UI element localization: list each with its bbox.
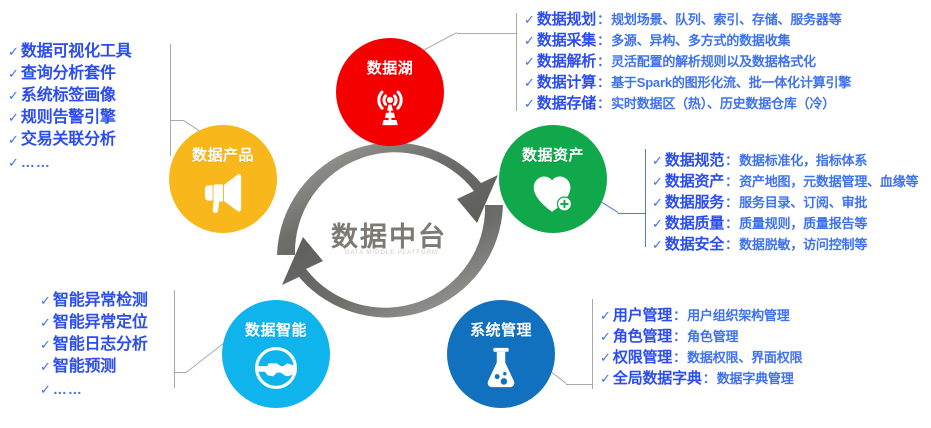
list-item-desc: 服务目录、订阅、审批 (739, 192, 867, 213)
handshake-icon (252, 344, 300, 392)
list-item-desc: 资产地图，元数据管理、血缘等 (739, 171, 918, 192)
check-icon: ✓ (40, 334, 51, 356)
list-item-desc: 用户组织架构管理 (687, 305, 789, 326)
list-item-separator: ： (596, 9, 611, 30)
list-item-desc: 灵活配置的解析规则以及数据格式化 (611, 51, 816, 72)
flask-icon (477, 344, 525, 392)
list-item-term: …… (21, 151, 51, 173)
list-item-desc: 数据脱敏，访问控制等 (739, 234, 867, 255)
list-item: ✓ 交易关联分析 (8, 129, 132, 151)
connector-rule-data-intelligence (174, 290, 175, 388)
list-item-term: 数据规划 (537, 9, 596, 30)
list-item: ✓ 数据质量 ： 质量规则，质量报告等 (652, 213, 918, 234)
list-item-separator: ： (672, 305, 687, 326)
list-item: ✓ 数据规划 ： 规划场景、队列、索引、存储、服务器等 (524, 9, 851, 30)
list-item-separator: ： (596, 72, 611, 93)
list-item: ✓ 全局数据字典 ： 数据字典管理 (600, 368, 802, 389)
text-block-data-asset: ✓ 数据规范 ： 数据标准化，指标体系 ✓ 数据资产 ： 资产地图，元数据管理、… (652, 150, 918, 255)
list-item: ✓ 智能预测 (40, 356, 148, 378)
node-data-lake[interactable]: 数据湖 (336, 38, 444, 146)
list-item: ✓ 数据计算 ： 基于Spark的图形化流、批一体化计算引擎 (524, 72, 851, 93)
node-system-management[interactable]: 系统管理 (447, 300, 555, 408)
list-item-desc: 规划场景、队列、索引、存储、服务器等 (611, 9, 841, 30)
list-item-term: 数据安全 (665, 234, 724, 255)
node-label-data-intelligence: 数据智能 (245, 319, 307, 340)
list-item-term: 数据规范 (665, 150, 724, 171)
list-item-term: …… (53, 378, 83, 400)
node-label-data-lake: 数据湖 (367, 57, 414, 78)
list-item-term: 角色管理 (613, 326, 672, 347)
list-item-term: 交易关联分析 (21, 129, 116, 151)
list-item-term: 数据资产 (665, 171, 724, 192)
check-icon: ✓ (652, 234, 663, 255)
node-data-asset[interactable]: 数据资产 (499, 125, 607, 233)
list-item-separator: ： (596, 51, 611, 72)
list-item-term: 数据服务 (665, 192, 724, 213)
node-data-intelligence[interactable]: 数据智能 (222, 300, 330, 408)
list-item: ✓ …… (40, 378, 148, 400)
list-item: ✓ …… (8, 151, 132, 173)
list-item-term: 智能异常检测 (53, 290, 148, 312)
list-item: ✓ 用户管理 ： 用户组织架构管理 (600, 305, 802, 326)
list-item: ✓ 智能异常检测 (40, 290, 148, 312)
node-data-product[interactable]: 数据产品 (169, 125, 277, 233)
node-label-system-management: 系统管理 (470, 319, 532, 340)
list-item-separator: ： (672, 347, 687, 368)
check-icon: ✓ (40, 379, 51, 401)
text-block-data-lake: ✓ 数据规划 ： 规划场景、队列、索引、存储、服务器等 ✓ 数据采集 ： 多源、… (524, 9, 851, 114)
list-item-separator: ： (724, 171, 739, 192)
list-item: ✓ 数据服务 ： 服务目录、订阅、审批 (652, 192, 918, 213)
list-item-separator: ： (596, 30, 611, 51)
connector-stub-data-asset (618, 213, 645, 214)
list-item-separator: ： (724, 234, 739, 255)
connector-stub-data-intelligence (174, 372, 186, 373)
list-item-desc: 基于Spark的图形化流、批一体化计算引擎 (611, 72, 851, 93)
center-subtitle: DATA MIDDLE PLATFORM (345, 250, 438, 256)
list-item-term: 智能预测 (53, 356, 116, 378)
check-icon: ✓ (600, 368, 611, 389)
check-icon: ✓ (600, 347, 611, 368)
list-item-term: 数据存储 (537, 93, 596, 114)
check-icon: ✓ (524, 72, 535, 93)
list-item: ✓ 规则告警引擎 (8, 107, 132, 129)
list-item-desc: 质量规则，质量报告等 (739, 213, 867, 234)
connector-stub-system-management (566, 384, 592, 385)
list-item-term: 用户管理 (613, 305, 672, 326)
list-item-term: 全局数据字典 (613, 368, 702, 389)
list-item: ✓ 数据资产 ： 资产地图，元数据管理、血缘等 (652, 171, 918, 192)
list-item-desc: 数据字典管理 (717, 368, 794, 389)
list-item-desc: 数据权限、界面权限 (687, 347, 802, 368)
connector-rule-data-product (170, 44, 171, 156)
heart-plus-icon (529, 169, 577, 217)
list-item-term: 数据计算 (537, 72, 596, 93)
list-item-term: 数据可视化工具 (21, 41, 132, 63)
connector-stub-data-lake (457, 33, 516, 34)
list-item-term: 系统标签画像 (21, 85, 116, 107)
list-item-separator: ： (702, 368, 717, 389)
list-item-separator: ： (724, 150, 739, 171)
megaphone-icon (199, 169, 247, 217)
list-item: ✓ 智能日志分析 (40, 334, 148, 356)
text-block-system-management: ✓ 用户管理 ： 用户组织架构管理 ✓ 角色管理 ： 角色管理 ✓ 权限管理 ：… (600, 305, 802, 389)
node-label-data-product: 数据产品 (192, 144, 254, 165)
list-item: ✓ 数据存储 ： 实时数据区（热）、历史数据仓库（冷） (524, 93, 851, 114)
check-icon: ✓ (40, 290, 51, 312)
connector-diag-data-lake (421, 32, 457, 52)
list-item: ✓ 查询分析套件 (8, 63, 132, 85)
check-icon: ✓ (524, 30, 535, 51)
check-icon: ✓ (8, 41, 19, 63)
list-item: ✓ 智能异常定位 (40, 312, 148, 334)
list-item-separator: ： (596, 93, 611, 114)
list-item-term: 智能日志分析 (53, 334, 148, 356)
connector-rule-data-lake (516, 13, 517, 111)
check-icon: ✓ (8, 129, 19, 151)
connector-diag-data-intelligence (186, 343, 224, 373)
list-item-separator: ： (724, 213, 739, 234)
list-item-term: 规则告警引擎 (21, 107, 116, 129)
check-icon: ✓ (524, 93, 535, 114)
check-icon: ✓ (40, 356, 51, 378)
list-item: ✓ 权限管理 ： 数据权限、界面权限 (600, 347, 802, 368)
list-item: ✓ 数据可视化工具 (8, 41, 132, 63)
text-block-data-intelligence: ✓ 智能异常检测 ✓ 智能异常定位 ✓ 智能日志分析 ✓ 智能预测 ✓ …… (40, 290, 148, 400)
list-item-desc: 多源、异构、多方式的数据收集 (611, 30, 790, 51)
list-item: ✓ 角色管理 ： 角色管理 (600, 326, 802, 347)
check-icon: ✓ (652, 150, 663, 171)
center-title: 数据中台 (331, 215, 447, 254)
check-icon: ✓ (8, 85, 19, 107)
list-item: ✓ 数据采集 ： 多源、异构、多方式的数据收集 (524, 30, 851, 51)
text-block-data-product: ✓ 数据可视化工具 ✓ 查询分析套件 ✓ 系统标签画像 ✓ 规则告警引擎 ✓ 交… (8, 41, 132, 173)
list-item: ✓ 数据解析 ： 灵活配置的解析规则以及数据格式化 (524, 51, 851, 72)
check-icon: ✓ (524, 51, 535, 72)
check-icon: ✓ (40, 312, 51, 334)
list-item-separator: ： (672, 326, 687, 347)
list-item-desc: 角色管理 (687, 326, 738, 347)
check-icon: ✓ (652, 192, 663, 213)
list-item-term: 数据质量 (665, 213, 724, 234)
check-icon: ✓ (8, 107, 19, 129)
check-icon: ✓ (652, 171, 663, 192)
list-item: ✓ 数据安全 ： 数据脱敏，访问控制等 (652, 234, 918, 255)
list-item: ✓ 数据规范 ： 数据标准化，指标体系 (652, 150, 918, 171)
list-item-term: 查询分析套件 (21, 63, 116, 85)
list-item: ✓ 系统标签画像 (8, 85, 132, 107)
list-item-term: 智能异常定位 (53, 312, 148, 334)
check-icon: ✓ (8, 63, 19, 85)
check-icon: ✓ (600, 326, 611, 347)
list-item-term: 数据解析 (537, 51, 596, 72)
connector-rule-data-asset (645, 149, 646, 247)
check-icon: ✓ (524, 9, 535, 30)
connector-rule-system-management (592, 299, 593, 389)
list-item-separator: ： (724, 192, 739, 213)
check-icon: ✓ (652, 213, 663, 234)
connector-stub-data-product (170, 120, 184, 121)
diagram-canvas: 数据中台 DATA MIDDLE PLATFORM 数据湖 数据资产 (0, 0, 931, 428)
radio-tower-icon (366, 82, 414, 130)
list-item-term: 数据采集 (537, 30, 596, 51)
check-icon: ✓ (8, 152, 19, 174)
check-icon: ✓ (600, 305, 611, 326)
list-item-desc: 实时数据区（热）、历史数据仓库（冷） (611, 93, 835, 114)
list-item-term: 权限管理 (613, 347, 672, 368)
list-item-desc: 数据标准化，指标体系 (739, 150, 867, 171)
node-label-data-asset: 数据资产 (522, 144, 584, 165)
